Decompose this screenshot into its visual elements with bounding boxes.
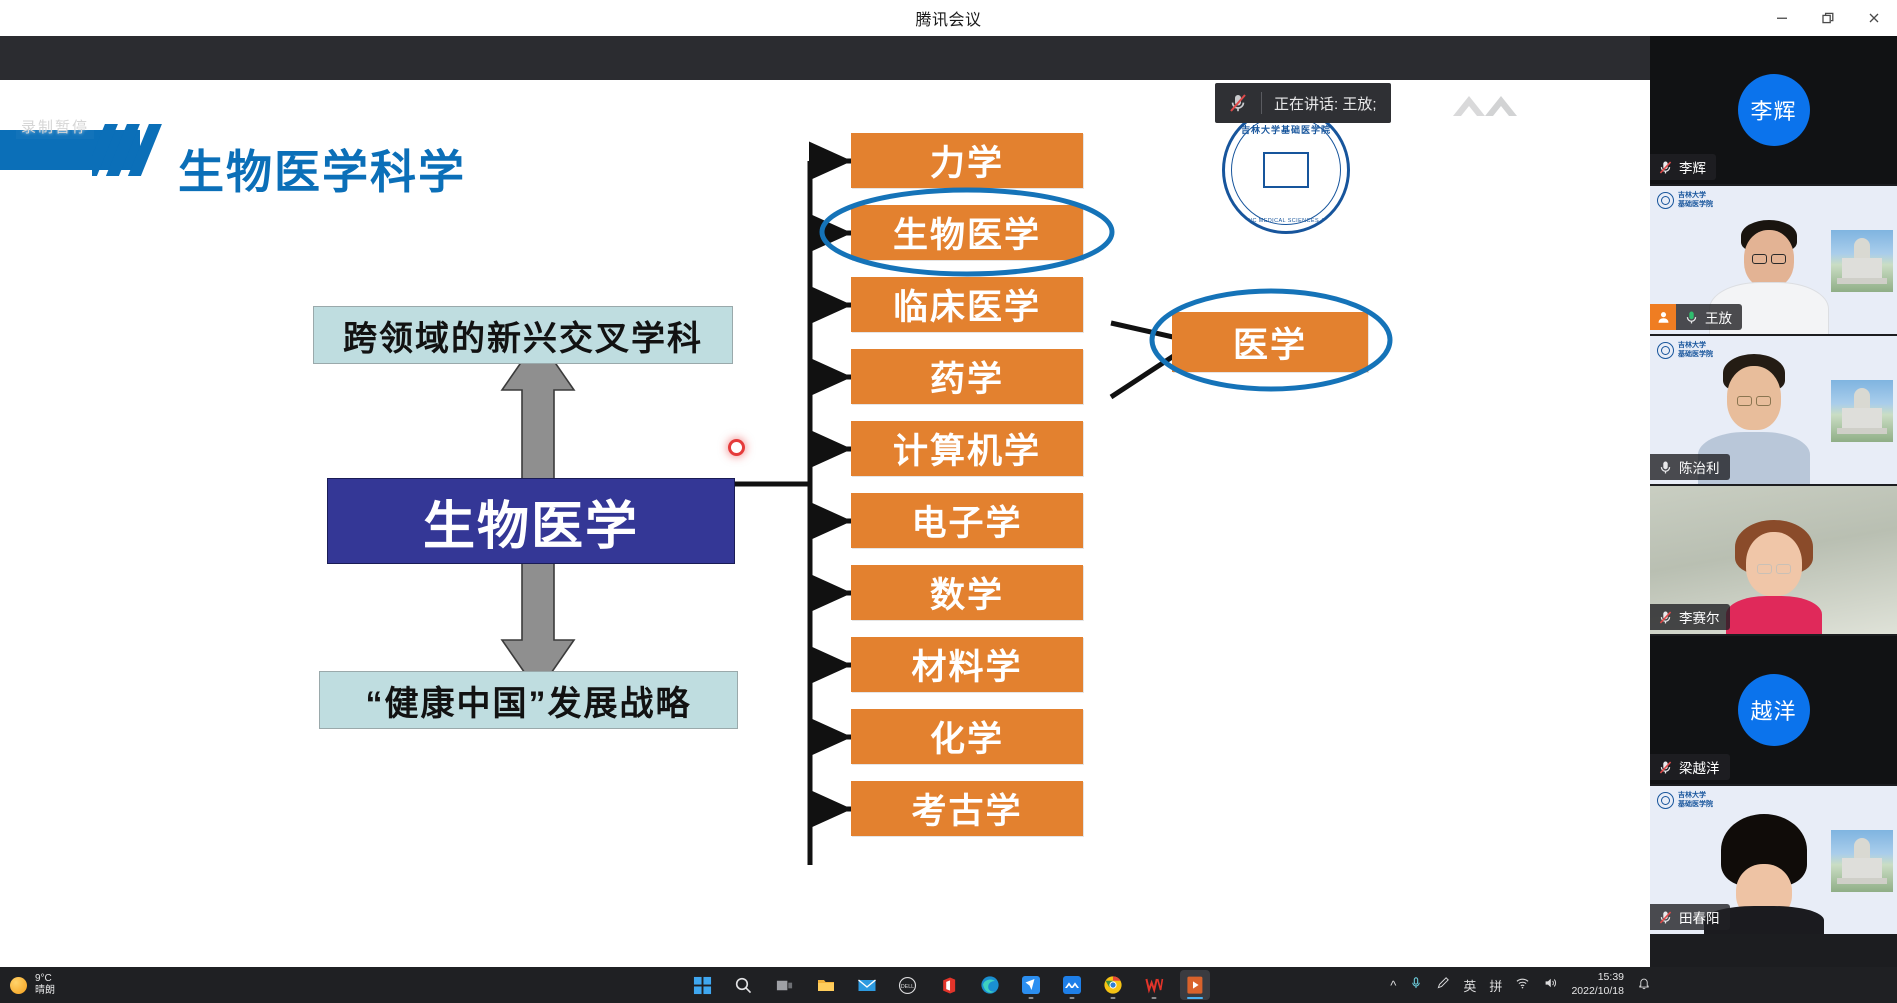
- branch-box-4: 计算机学: [851, 421, 1083, 476]
- window-title: 腾讯会议: [915, 6, 981, 30]
- bell-icon[interactable]: [1637, 976, 1651, 995]
- windows-taskbar[interactable]: 9°C 晴朗 DELL: [0, 967, 1897, 1003]
- diagram-box-top: 跨领域的新兴交叉学科: [313, 306, 733, 364]
- active-speaker-label: 正在讲话: 王放;: [1274, 93, 1377, 114]
- diagram-box-bottom: “健康中国”发展战略: [319, 671, 738, 729]
- participant-tile-3[interactable]: 李赛尔: [1650, 486, 1897, 636]
- participant-namebar-4: 梁越洋: [1650, 754, 1730, 780]
- taskbar-clock[interactable]: 15:39 2022/10/18: [1571, 971, 1624, 998]
- participant-name-0: 李辉: [1679, 157, 1706, 177]
- weather-description: 晴朗: [35, 985, 55, 996]
- branch-box-2: 临床医学: [851, 277, 1083, 332]
- branch-box-0: 力学: [851, 133, 1083, 188]
- virtual-background-building-icon: [1831, 380, 1893, 442]
- chevron-up-icon[interactable]: ^: [1390, 978, 1396, 993]
- participant-tile-2[interactable]: 吉林大学基础医学院 陈治利: [1650, 336, 1897, 486]
- weather-temperature: 9°C: [35, 973, 52, 984]
- ime-mode-indicator[interactable]: 拼: [1489, 976, 1502, 995]
- virtual-background-building-icon: [1831, 830, 1893, 892]
- participant-rail[interactable]: 李辉 李辉 吉林大学基础医学院: [1650, 36, 1897, 967]
- participant-tile-0[interactable]: 李辉 李辉: [1650, 36, 1897, 186]
- wifi-icon[interactable]: [1515, 976, 1530, 995]
- clock-time: 15:39: [1598, 971, 1624, 983]
- dell-icon[interactable]: DELL: [893, 970, 923, 1000]
- presentation-slide: 生物医学科学 吉林大学基础医学院 COLLEGE OF BASIC MEDICA…: [0, 80, 1650, 967]
- recording-status-watermark: 录制暂停: [16, 114, 94, 139]
- wps-icon[interactable]: [1139, 970, 1169, 1000]
- participant-tile-5[interactable]: 吉林大学基础医学院 田春阳: [1650, 786, 1897, 936]
- powerpoint-icon[interactable]: [1180, 970, 1210, 1000]
- ime-language-indicator[interactable]: 英: [1463, 976, 1476, 995]
- avatar: 越洋: [1738, 674, 1810, 746]
- close-button[interactable]: [1851, 0, 1897, 36]
- host-badge-icon: [1650, 304, 1676, 330]
- participant-name-5: 田春阳: [1679, 907, 1720, 927]
- tencent-meeting-icon[interactable]: [1057, 970, 1087, 1000]
- edge-icon[interactable]: [975, 970, 1005, 1000]
- banner-divider: [1261, 92, 1262, 114]
- search-icon[interactable]: [729, 970, 759, 1000]
- office-icon[interactable]: [934, 970, 964, 1000]
- participant-namebar-2: 陈治利: [1650, 454, 1730, 480]
- branch-box-1: 生物医学: [851, 205, 1083, 260]
- branch-box-8: 化学: [851, 709, 1083, 764]
- branch-box-7: 材料学: [851, 637, 1083, 692]
- branch-box-9: 考古学: [851, 781, 1083, 836]
- tencent-meeting-logo: [1445, 86, 1537, 137]
- restore-button[interactable]: [1805, 0, 1851, 36]
- diagram-box-center: 生物医学: [327, 478, 735, 564]
- participant-namebar-5: 田春阳: [1650, 904, 1730, 930]
- microphone-icon[interactable]: [1409, 976, 1423, 995]
- chrome-icon[interactable]: [1098, 970, 1128, 1000]
- mail-icon[interactable]: [852, 970, 882, 1000]
- avatar: 李辉: [1738, 74, 1810, 146]
- file-explorer-icon[interactable]: [811, 970, 841, 1000]
- microphone-muted-icon: [1653, 904, 1677, 930]
- volume-icon[interactable]: [1543, 976, 1558, 995]
- participant-namebar-1: 王放: [1650, 304, 1742, 330]
- window-title-bar: 腾讯会议: [0, 0, 1897, 36]
- svg-text:DELL: DELL: [901, 983, 914, 989]
- branch-box-3: 药学: [851, 349, 1083, 404]
- microphone-icon: [1653, 454, 1677, 480]
- microphone-muted-icon: [1225, 90, 1251, 116]
- laser-pointer-dot: [731, 442, 742, 453]
- pen-icon[interactable]: [1436, 976, 1450, 995]
- microphone-muted-icon: [1653, 154, 1677, 180]
- sun-icon: [10, 977, 27, 994]
- vertical-double-arrow: [0, 80, 1650, 967]
- app-blue-icon[interactable]: [1016, 970, 1046, 1000]
- virtual-background-building-icon: [1831, 230, 1893, 292]
- microphone-muted-icon: [1653, 604, 1677, 630]
- participant-namebar-3: 李赛尔: [1650, 604, 1730, 630]
- participant-name-3: 李赛尔: [1679, 607, 1720, 627]
- participant-tile-4[interactable]: 越洋 梁越洋: [1650, 636, 1897, 786]
- taskbar-icon-group[interactable]: DELL: [688, 967, 1210, 1003]
- branch-box-6: 数学: [851, 565, 1083, 620]
- active-speaker-banner: 正在讲话: 王放;: [1215, 83, 1391, 123]
- shared-screen-area[interactable]: 正在讲话: 王放; 录制暂停 生物医学科学 吉林大学基础医学院 COLLEGE …: [0, 36, 1650, 967]
- diagram-box-medicine: 医学: [1172, 312, 1368, 372]
- clock-date: 2022/10/18: [1571, 985, 1624, 997]
- task-view-icon[interactable]: [770, 970, 800, 1000]
- branch-box-5: 电子学: [851, 493, 1083, 548]
- minimize-button[interactable]: [1759, 0, 1805, 36]
- participant-namebar-0: 李辉: [1650, 154, 1716, 180]
- windows-start-icon[interactable]: [688, 970, 718, 1000]
- microphone-active-icon: [1679, 304, 1703, 330]
- virtual-background-logo-icon: 吉林大学基础医学院: [1657, 192, 1713, 210]
- virtual-background-logo-icon: 吉林大学基础医学院: [1657, 342, 1713, 360]
- window-controls: [1759, 0, 1897, 36]
- participant-name-1: 王放: [1705, 307, 1732, 327]
- participant-name-4: 梁越洋: [1679, 757, 1720, 777]
- microphone-muted-icon: [1653, 754, 1677, 780]
- weather-widget[interactable]: 9°C 晴朗: [10, 967, 55, 1003]
- participant-tile-1[interactable]: 吉林大学基础医学院: [1650, 186, 1897, 336]
- participant-name-2: 陈治利: [1679, 457, 1720, 477]
- virtual-background-logo-icon: 吉林大学基础医学院: [1657, 792, 1713, 810]
- system-tray[interactable]: ^ 英 拼 15:39 2022/10/18: [1390, 967, 1651, 1003]
